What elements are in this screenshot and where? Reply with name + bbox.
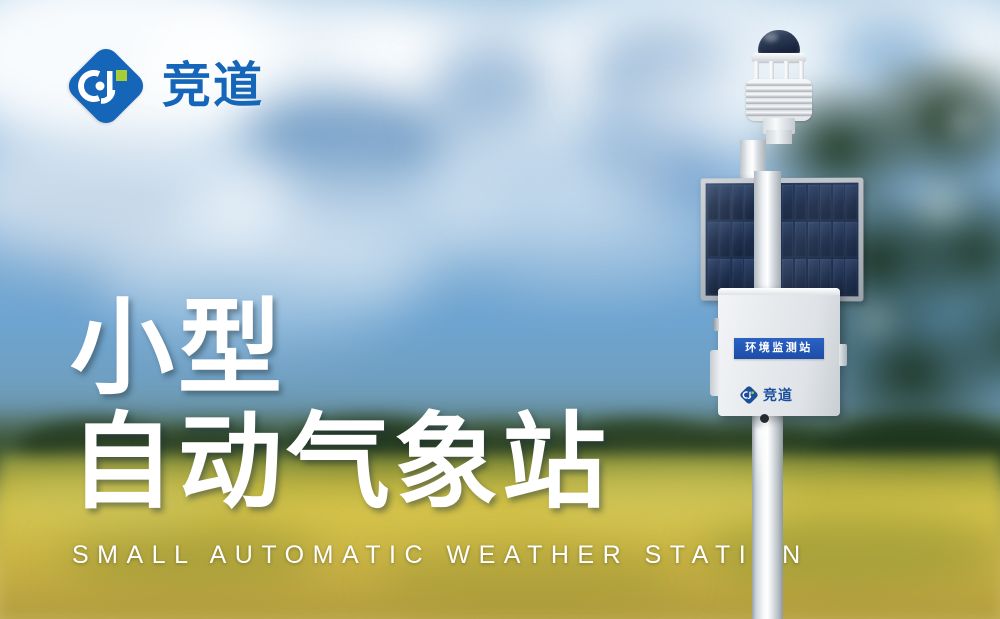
- logo-glyph-icon: [66, 46, 146, 126]
- solar-cell: [720, 222, 731, 258]
- solar-cell: [808, 222, 819, 258]
- pole-highlight: [756, 428, 765, 488]
- solar-cell: [833, 184, 844, 220]
- shield-louver: [746, 82, 812, 85]
- ultrasonic-weather-sensor-icon: [736, 30, 822, 142]
- solar-cell: [846, 184, 857, 220]
- jingdao-diamond-logo-icon: [66, 46, 146, 126]
- enclosure-hinge: [713, 318, 719, 331]
- headline-line-1: 小型: [70, 296, 610, 402]
- solar-cell: [846, 259, 857, 295]
- enclosure-label-banner: 环境监测站: [734, 338, 824, 359]
- shield-louver: [746, 94, 812, 97]
- brand-name-text: 竞道: [162, 62, 264, 111]
- headline-block: 小型 自动气象站: [70, 296, 610, 516]
- shield-louver: [746, 100, 812, 103]
- enclosure-top-lip: [718, 288, 840, 295]
- sensor-pillar: [754, 61, 759, 80]
- logo-glyph-icon: [740, 386, 758, 404]
- enclosure-brand-logo: 竞道: [740, 384, 820, 406]
- solar-cell: [707, 259, 718, 294]
- jingdao-diamond-logo-icon: [740, 386, 758, 404]
- weather-station-product-banner: 竞道 小型 自动气象站 SMALL AUTOMATIC WEATHER STAT…: [0, 0, 1000, 619]
- sensor-pillar: [799, 61, 804, 80]
- pole-bolt-icon: [760, 414, 769, 423]
- tree-highlight: [935, 100, 990, 145]
- shield-louver: [746, 88, 812, 91]
- weather-station-device: 环境监测站 竞道: [690, 30, 870, 619]
- solar-cell: [720, 185, 731, 221]
- sensor-pillar: [769, 61, 774, 80]
- solar-cell: [732, 222, 743, 258]
- solar-cell: [833, 222, 844, 258]
- solar-cell-grid: [706, 183, 859, 297]
- brand-logo: 竞道: [66, 46, 264, 126]
- solar-cell: [795, 222, 806, 258]
- solar-cell: [782, 222, 793, 258]
- solar-cell: [707, 222, 718, 257]
- solar-cell: [820, 222, 831, 258]
- solar-cell: [782, 184, 793, 220]
- solar-cell: [795, 184, 806, 220]
- control-enclosure: 环境监测站 竞道: [718, 288, 840, 416]
- tree-highlight: [905, 175, 975, 235]
- shield-louver: [746, 112, 812, 115]
- enclosure-brand-text: 竞道: [763, 388, 793, 402]
- enclosure-latch: [839, 344, 847, 366]
- solar-cell: [707, 185, 718, 220]
- sensor-base: [766, 130, 792, 144]
- solar-cell: [808, 184, 819, 220]
- sensor-pillar: [784, 61, 789, 80]
- cloud-shape: [470, 190, 710, 290]
- solar-cell: [732, 185, 743, 221]
- enclosure-label-text: 环境监测站: [745, 343, 813, 354]
- sensor-pillars: [754, 61, 804, 80]
- radiation-shield: [746, 79, 812, 121]
- solar-cell: [820, 184, 831, 220]
- solar-panel-icon: [701, 178, 864, 302]
- headline-line-2: 自动气象站: [70, 410, 610, 516]
- enclosure-side-mount: [710, 350, 720, 396]
- solar-cell: [846, 222, 857, 258]
- shield-louver: [746, 106, 812, 109]
